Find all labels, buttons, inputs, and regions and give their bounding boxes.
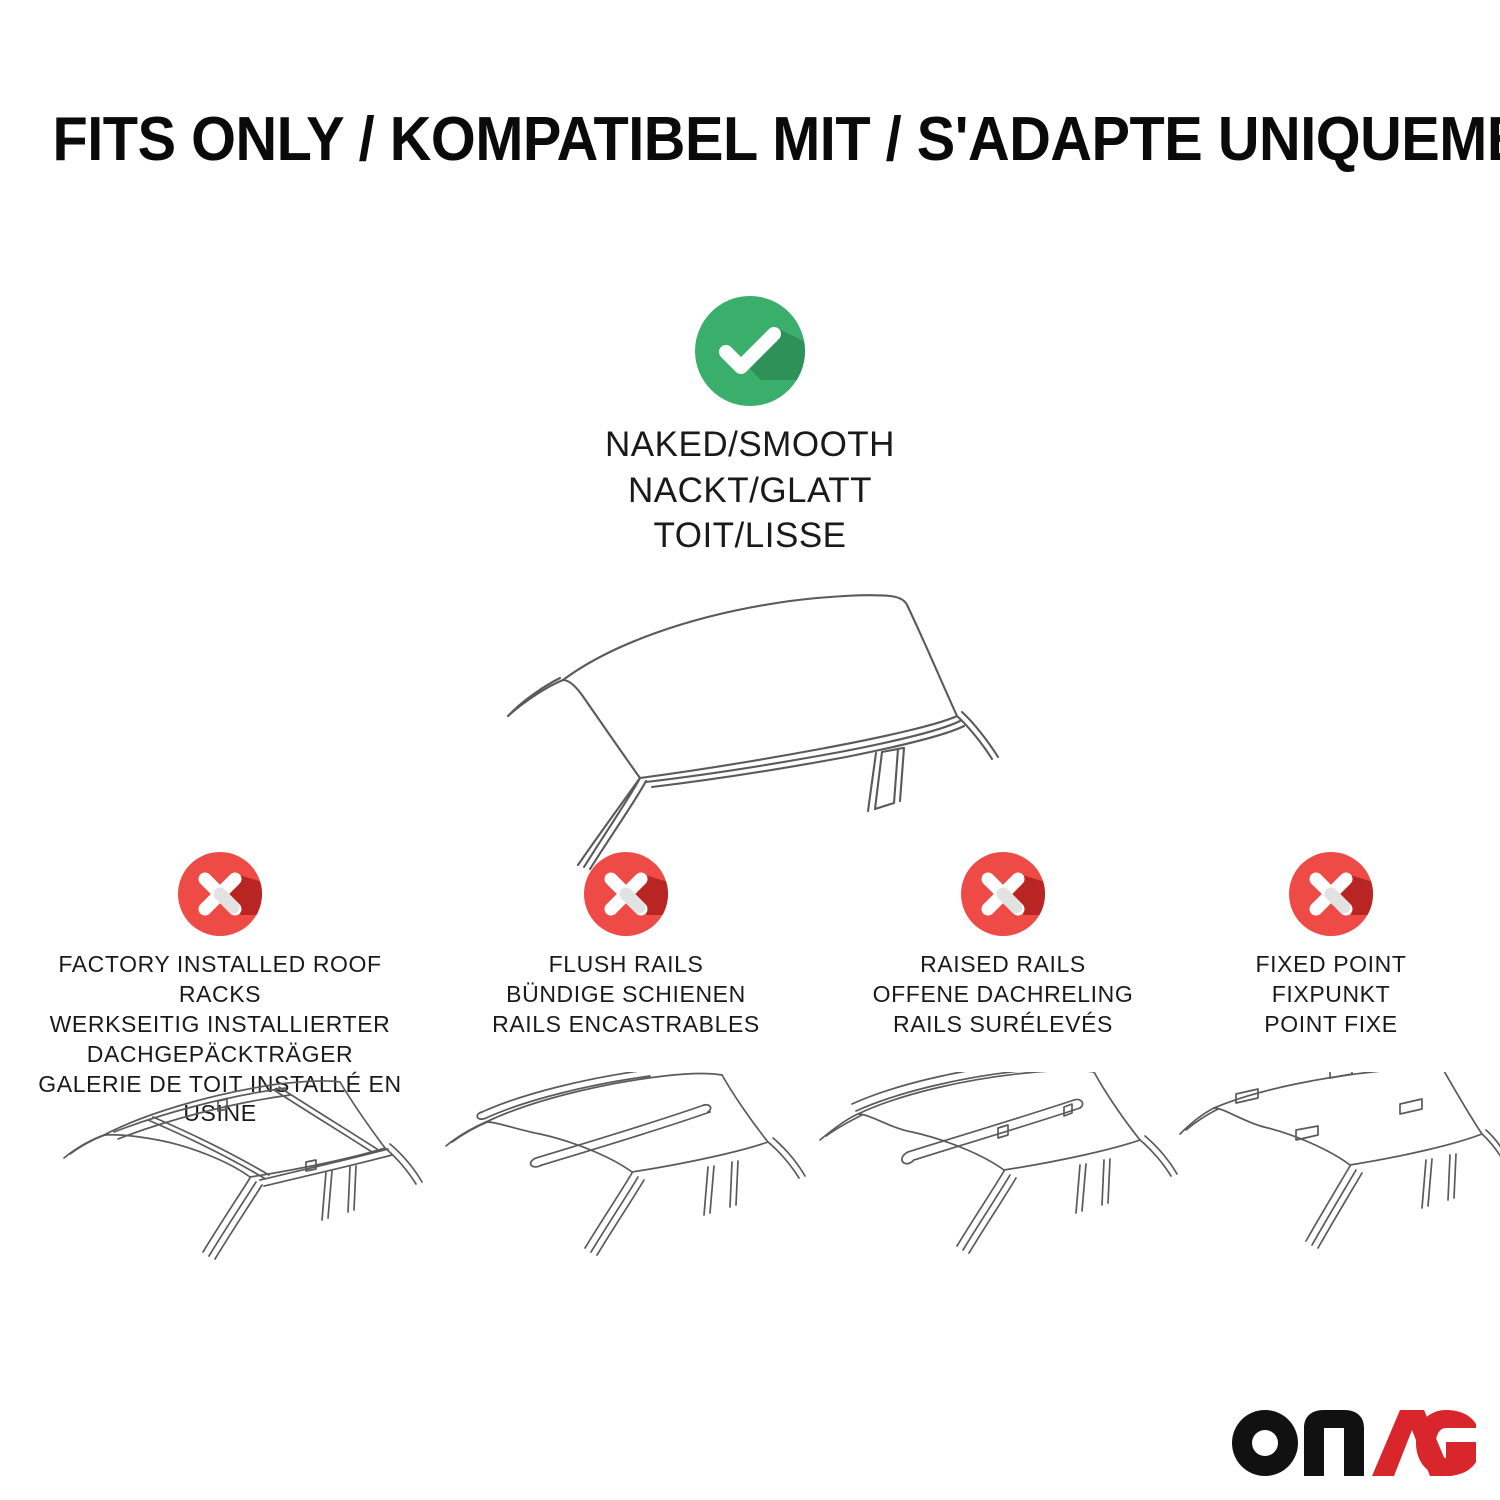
incompatible-caption: FLUSH RAILS BÜNDIGE SCHIENEN RAILS ENCAS… [440,950,812,1040]
cross-icon [584,852,668,936]
incompatible-caption: FIXED POINT FIXPUNKT POINT FIXE [1186,950,1476,1040]
cross-icon [178,852,262,936]
incompatible-roof-type-fixed-point: FIXED POINT FIXPUNKT POINT FIXE [1186,852,1476,1040]
incompatible-roof-type-raised-rails: RAISED RAILS OFFENE DACHRELING RAILS SUR… [818,852,1188,1040]
page-title: FITS ONLY / KOMPATIBEL MIT / S'ADAPTE UN… [53,104,1448,175]
omac-logo [1232,1408,1476,1478]
car-roof-factory-installed-roof-racks-illustration [40,1072,440,1282]
car-roof-raised-rails-illustration [812,1072,1212,1282]
car-roof-naked-smooth-illustration [470,573,1030,873]
compatible-caption: NAKED/SMOOTH NACKT/GLATT TOIT/LISSE [470,422,1030,559]
compatible-roof-type: NAKED/SMOOTH NACKT/GLATT TOIT/LISSE [470,296,1030,873]
incompatible-roof-type-flush-rails: FLUSH RAILS BÜNDIGE SCHIENEN RAILS ENCAS… [440,852,812,1040]
incompatible-caption: RAISED RAILS OFFENE DACHRELING RAILS SUR… [818,950,1188,1040]
check-icon [695,296,805,406]
cross-icon [961,852,1045,936]
car-roof-fixed-point-illustration [1178,1072,1500,1282]
cross-icon [1289,852,1373,936]
car-roof-flush-rails-illustration [432,1072,832,1282]
